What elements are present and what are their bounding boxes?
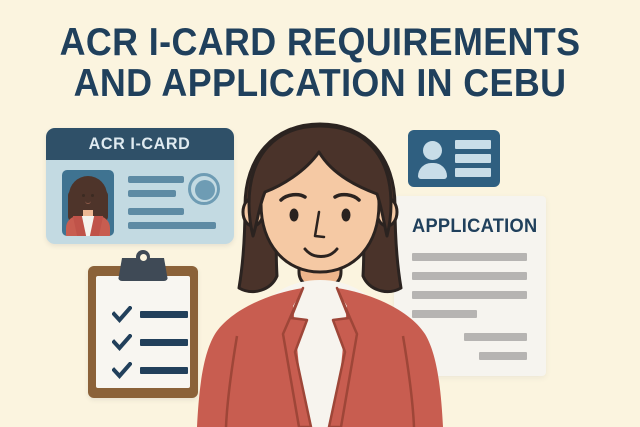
acr-i-card-title: ACR I-CARD <box>89 134 191 154</box>
photo-eye-left <box>82 194 85 197</box>
checklist-item-bar <box>140 311 188 318</box>
id-card-detail-line <box>128 190 176 197</box>
checklist-item-bar <box>140 367 188 374</box>
id-card-detail-line <box>128 208 184 215</box>
id-icon-text-line <box>455 154 491 163</box>
woman-illustration-svg <box>195 120 445 427</box>
clipboard-clip-hole <box>140 254 147 261</box>
clipboard-paper <box>96 276 190 388</box>
id-card-detail-line <box>128 176 184 183</box>
checklist-item <box>112 334 192 352</box>
title-line-1: ACR I-CARD REQUIREMENTS <box>26 22 615 63</box>
page-title: ACR I-CARD REQUIREMENTS AND APPLICATION … <box>0 22 640 104</box>
photo-eye-right <box>91 194 94 197</box>
checklist-item <box>112 362 192 380</box>
id-card-photo <box>62 170 114 236</box>
clipboard-icon <box>88 266 198 398</box>
infographic-banner: ACR I-CARD REQUIREMENTS AND APPLICATION … <box>0 0 640 427</box>
woman-illustration <box>195 120 445 427</box>
id-icon-text-line <box>455 140 491 149</box>
check-icon <box>112 334 132 352</box>
id-icon-text-line <box>455 168 491 177</box>
document-text-line <box>479 352 527 360</box>
check-icon <box>112 362 132 380</box>
checklist-item-bar <box>140 339 188 346</box>
document-text-line <box>464 333 527 341</box>
title-line-2: AND APPLICATION IN CEBU <box>26 63 615 104</box>
check-icon <box>112 306 132 324</box>
checklist-item <box>112 306 192 324</box>
